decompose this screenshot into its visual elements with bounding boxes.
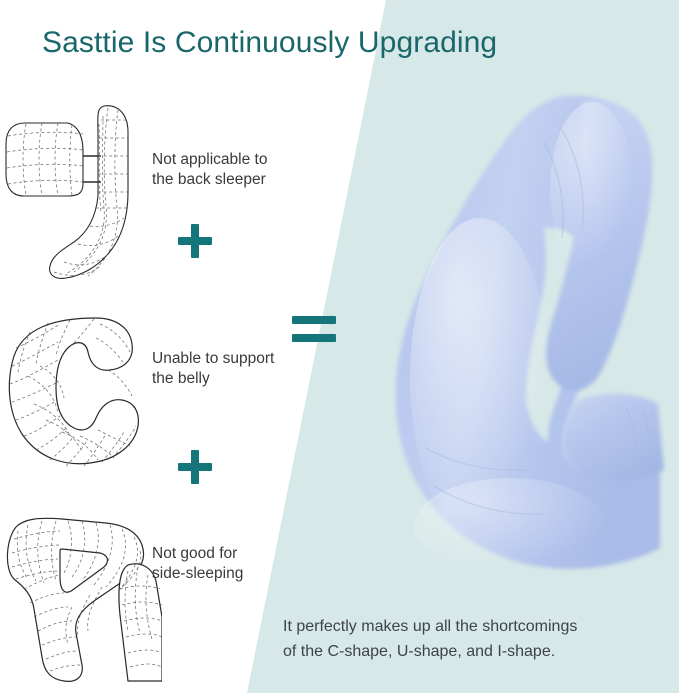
equals-operator (292, 316, 336, 342)
equals-bar-top (292, 316, 336, 324)
plus-operator-2 (178, 450, 212, 484)
note-side-sleeping: Not good for side-sleeping (152, 544, 243, 584)
product-infographic: Sasttie Is Continuously Upgrading (0, 0, 679, 693)
j-shape-pillow-sketch-icon (4, 96, 144, 291)
page-title: Sasttie Is Continuously Upgrading (42, 26, 497, 60)
bottom-caption: It perfectly makes up all the shortcomin… (283, 614, 577, 664)
note-back-sleeper: Not applicable to the back sleeper (152, 150, 267, 190)
equals-bar-bottom (292, 334, 336, 342)
note-belly-support: Unable to support the belly (152, 349, 274, 389)
plus-operator-1 (178, 224, 212, 258)
i-shape-pillow-sketch-icon (2, 505, 162, 690)
hero-pillow-image (330, 78, 679, 643)
c-shape-pillow-sketch-icon (4, 300, 144, 485)
